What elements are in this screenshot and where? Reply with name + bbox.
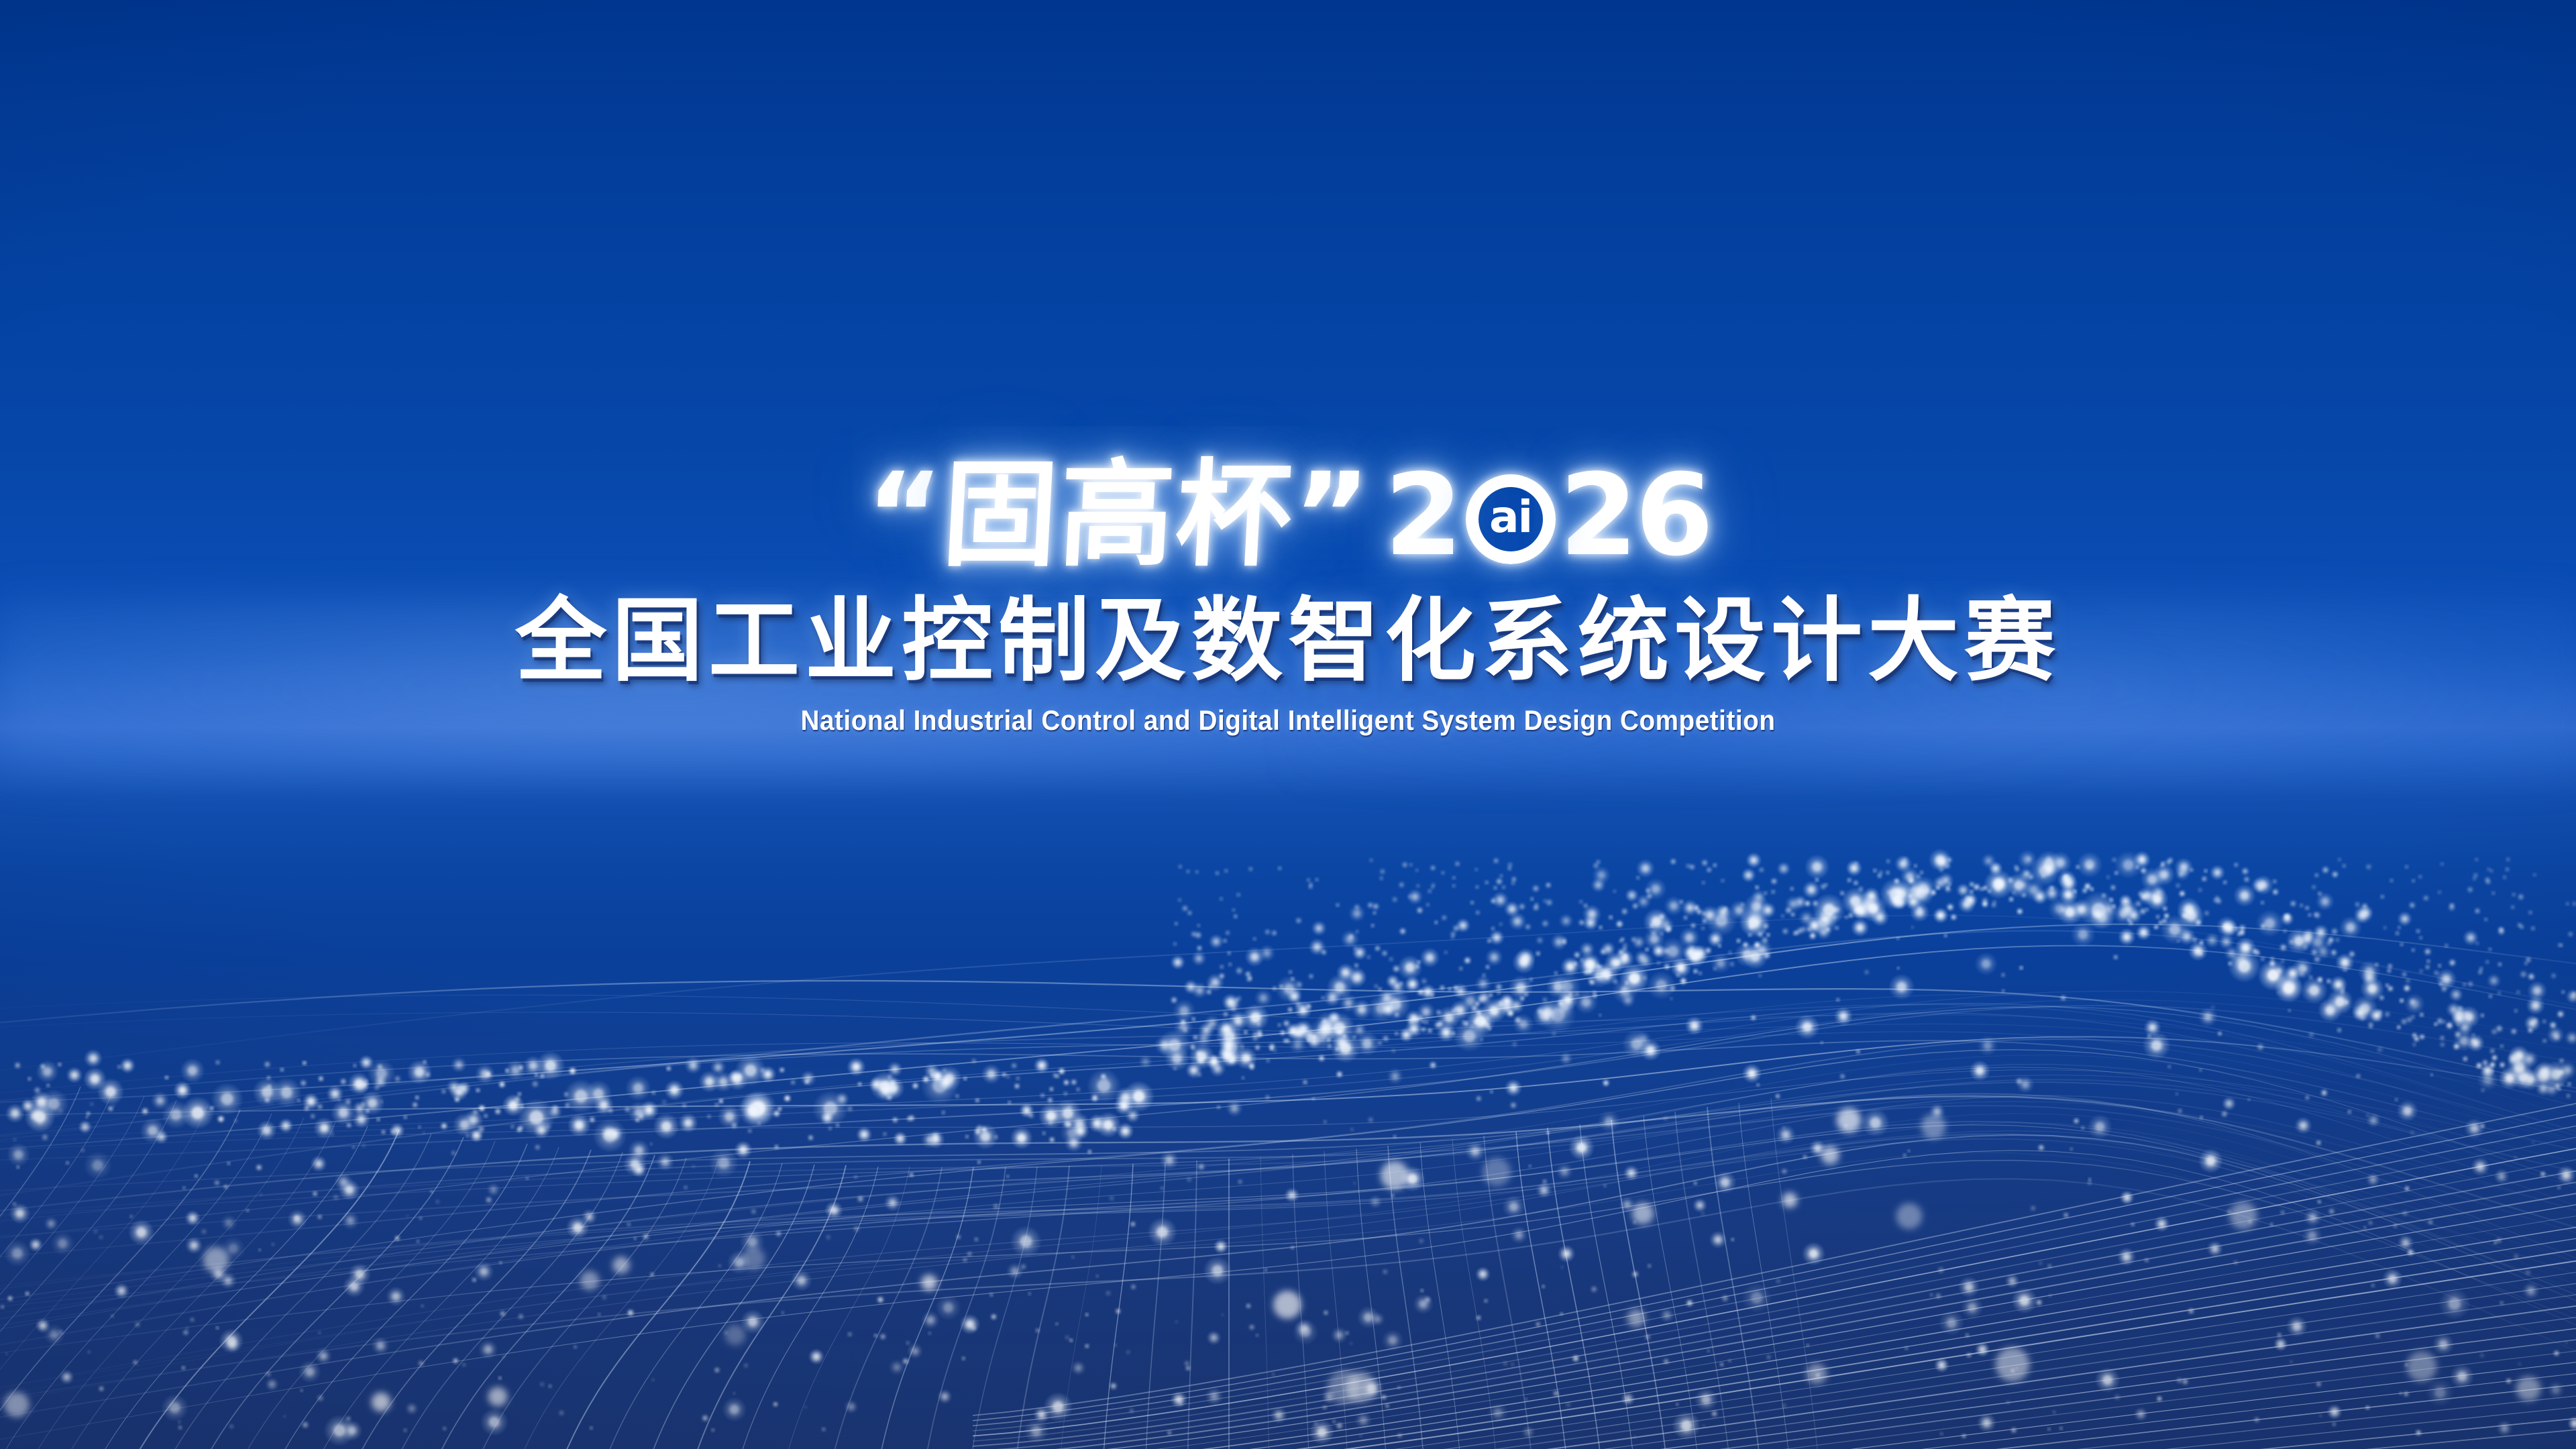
year-suffix: 26 bbox=[1560, 459, 1711, 572]
quote-close-mark: ” bbox=[1289, 447, 1373, 582]
brand-line: “固高杯” 2 ai 26 bbox=[0, 409, 2576, 570]
cup-name-text: 固高杯 bbox=[938, 447, 1296, 582]
poster-stage: “固高杯” 2 ai 26 全国工业控制及数智化系统设计大赛 National … bbox=[0, 0, 2576, 1449]
quote-open-mark: “ bbox=[861, 447, 946, 582]
ai-mark-text: ai bbox=[1489, 495, 1532, 539]
page-title: 全国工业控制及数智化系统设计大赛 bbox=[0, 593, 2576, 690]
year-2026: 2 ai 26 bbox=[1385, 459, 1711, 572]
year-prefix: 2 bbox=[1385, 459, 1460, 572]
ai-circle-icon: ai bbox=[1466, 474, 1556, 564]
page-subtitle-en: National Industrial Control and Digital … bbox=[103, 704, 2473, 737]
cup-name: “固高杯” bbox=[862, 458, 1373, 573]
title-block: “固高杯” 2 ai 26 全国工业控制及数智化系统设计大赛 National … bbox=[0, 409, 2576, 737]
